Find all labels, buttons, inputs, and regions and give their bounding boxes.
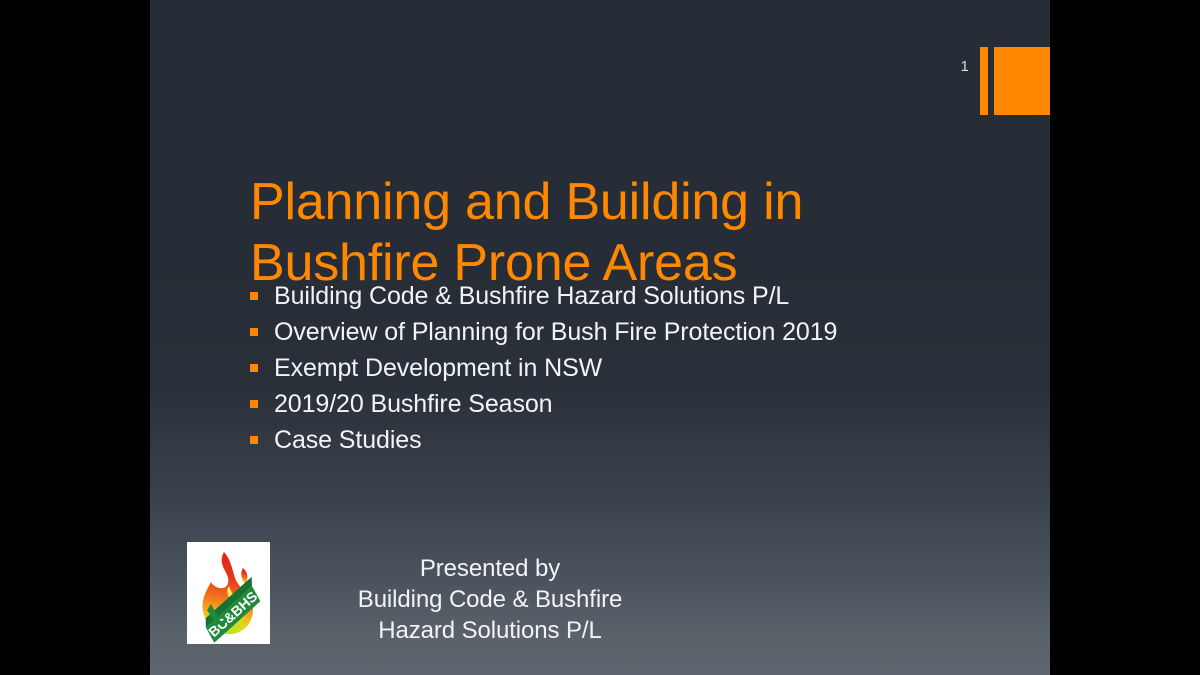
list-item-label: Exempt Development in NSW xyxy=(274,354,602,382)
slide-canvas: 1 Planning and Building in Bushfire Pron… xyxy=(150,0,1050,675)
flame-logo-icon: BC&BHS xyxy=(187,542,270,644)
list-item-label: Building Code & Bushfire Hazard Solution… xyxy=(274,282,789,310)
list-item: Overview of Planning for Bush Fire Prote… xyxy=(250,314,990,350)
presenter-line-1: Presented by xyxy=(280,553,700,584)
presenter-line-2: Building Code & Bushfire xyxy=(280,584,700,615)
list-item-label: Case Studies xyxy=(274,426,422,454)
list-item: Exempt Development in NSW xyxy=(250,350,990,386)
corner-accent-decoration xyxy=(980,47,1050,115)
page-title: Planning and Building in Bushfire Prone … xyxy=(250,172,950,294)
accent-block xyxy=(994,47,1050,115)
slide-stage: 1 Planning and Building in Bushfire Pron… xyxy=(0,0,1200,675)
list-item: Building Code & Bushfire Hazard Solution… xyxy=(250,278,990,314)
presenter-line-3: Hazard Solutions P/L xyxy=(280,615,700,646)
square-bullet-icon xyxy=(250,364,258,372)
square-bullet-icon xyxy=(250,292,258,300)
accent-thin-bar xyxy=(980,47,988,115)
list-item-label: 2019/20 Bushfire Season xyxy=(274,390,552,418)
bullet-list: Building Code & Bushfire Hazard Solution… xyxy=(250,278,990,458)
list-item: Case Studies xyxy=(250,422,990,458)
company-logo: BC&BHS xyxy=(187,542,270,644)
square-bullet-icon xyxy=(250,436,258,444)
list-item-label: Overview of Planning for Bush Fire Prote… xyxy=(274,318,837,346)
square-bullet-icon xyxy=(250,328,258,336)
square-bullet-icon xyxy=(250,400,258,408)
presenter-credit: Presented by Building Code & Bushfire Ha… xyxy=(280,553,700,646)
slide-number: 1 xyxy=(939,57,969,77)
list-item: 2019/20 Bushfire Season xyxy=(250,386,990,422)
